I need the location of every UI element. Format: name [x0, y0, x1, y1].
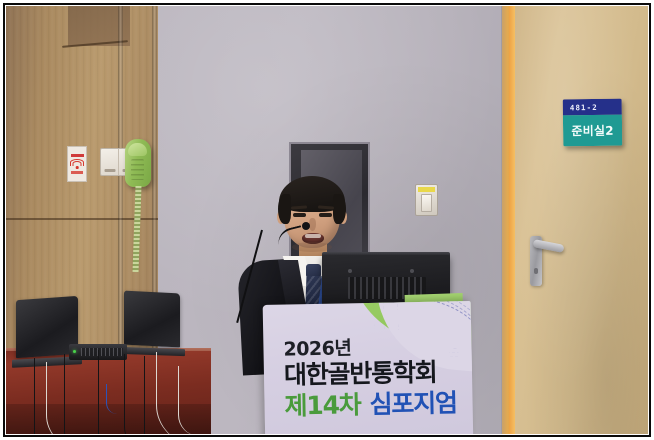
banner-text-block: 2026년 대한골반통학회 제14차 심포지엄 — [283, 337, 462, 420]
door-edge-stripe — [509, 6, 515, 434]
light-switch[interactable] — [415, 184, 438, 216]
banner-organization: 대한골반통학회 — [284, 358, 463, 389]
room-sign: 481-2 준비실2 — [563, 99, 623, 147]
room-number-text: 481-2 — [570, 102, 598, 111]
microphone-capsule[interactable] — [302, 222, 310, 230]
banner-event-type: 심포지엄 — [369, 389, 457, 418]
door-keyhole — [534, 268, 538, 274]
cable-white-3 — [178, 366, 199, 434]
nose — [309, 218, 316, 231]
podium-banner-panel: 2026년 대한골반통학회 제14차 심포지엄 — [263, 301, 474, 434]
preparation-room-door[interactable] — [509, 6, 648, 434]
necktie-knot — [306, 264, 321, 278]
cable-5 — [144, 356, 165, 434]
notice-sign-text-line — [71, 171, 83, 174]
photo-frame: 481-2 준비실2 — [0, 0, 654, 440]
light-switch-label-tag — [418, 187, 435, 192]
room-sign-number-band: 481-2 — [563, 99, 622, 116]
notice-sign-header-bar — [71, 154, 84, 157]
telephone-keypad[interactable] — [131, 159, 144, 180]
photo-scene: 481-2 준비실2 — [6, 6, 648, 434]
wall-telephone[interactable] — [125, 139, 151, 187]
telephone-handset[interactable] — [128, 143, 147, 156]
hair-side-left — [278, 194, 291, 224]
hair-side-right — [333, 194, 346, 224]
cable-blue-connector — [106, 384, 117, 414]
banner-edition: 제14차 — [284, 391, 361, 420]
light-switch-rocker[interactable] — [421, 194, 432, 212]
cable-white-1 — [46, 362, 79, 434]
room-name-text: 준비실2 — [571, 122, 614, 140]
room-sign-name-band: 준비실2 — [563, 115, 622, 147]
cable-bundle — [6, 336, 211, 434]
outlet-socket-left[interactable] — [101, 149, 119, 175]
no-mobile-phone-icon — [71, 158, 84, 169]
monitor-screws — [348, 269, 426, 273]
banner-subtitle-row: 제14차 심포지엄 — [284, 389, 462, 420]
eye-left — [293, 213, 306, 217]
eye-right — [319, 213, 332, 217]
notice-sign — [67, 146, 87, 182]
